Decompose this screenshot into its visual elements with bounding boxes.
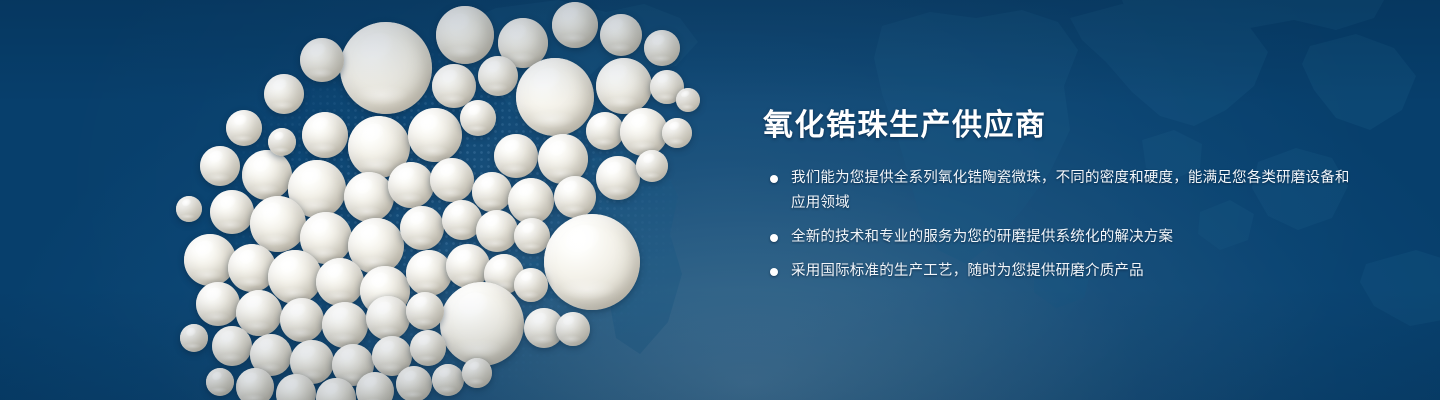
hero-banner: 氧化锆珠生产供应商 我们能为您提供全系列氧化锆陶瓷微珠，不同的密度和硬度，能满足… [0,0,1440,400]
banner-bullet-list: 我们能为您提供全系列氧化锆陶瓷微珠，不同的密度和硬度，能满足您各类研磨设备和应用… [763,166,1363,284]
bullet-text-3: 采用国际标准的生产工艺，随时为您提供研磨介质产品 [791,263,1144,279]
filled-circle-bullet-icon [770,175,778,183]
bullet-text-2: 全新的技术和专业的服务为您的研磨提供系统化的解决方案 [791,229,1173,245]
bullet-item-1: 我们能为您提供全系列氧化锆陶瓷微珠，不同的密度和硬度，能满足您各类研磨设备和应用… [763,166,1363,216]
bullet-text-1: 我们能为您提供全系列氧化锆陶瓷微珠，不同的密度和硬度，能满足您各类研磨设备和应用… [791,170,1350,211]
bullet-item-2: 全新的技术和专业的服务为您的研磨提供系统化的解决方案 [763,225,1363,250]
banner-copy: 氧化锆珠生产供应商 我们能为您提供全系列氧化锆陶瓷微珠，不同的密度和硬度，能满足… [763,108,1363,284]
filled-circle-bullet-icon [770,234,778,242]
filled-circle-bullet-icon [770,268,778,276]
bullet-item-3: 采用国际标准的生产工艺，随时为您提供研磨介质产品 [763,259,1363,284]
banner-headline: 氧化锆珠生产供应商 [763,108,1363,144]
